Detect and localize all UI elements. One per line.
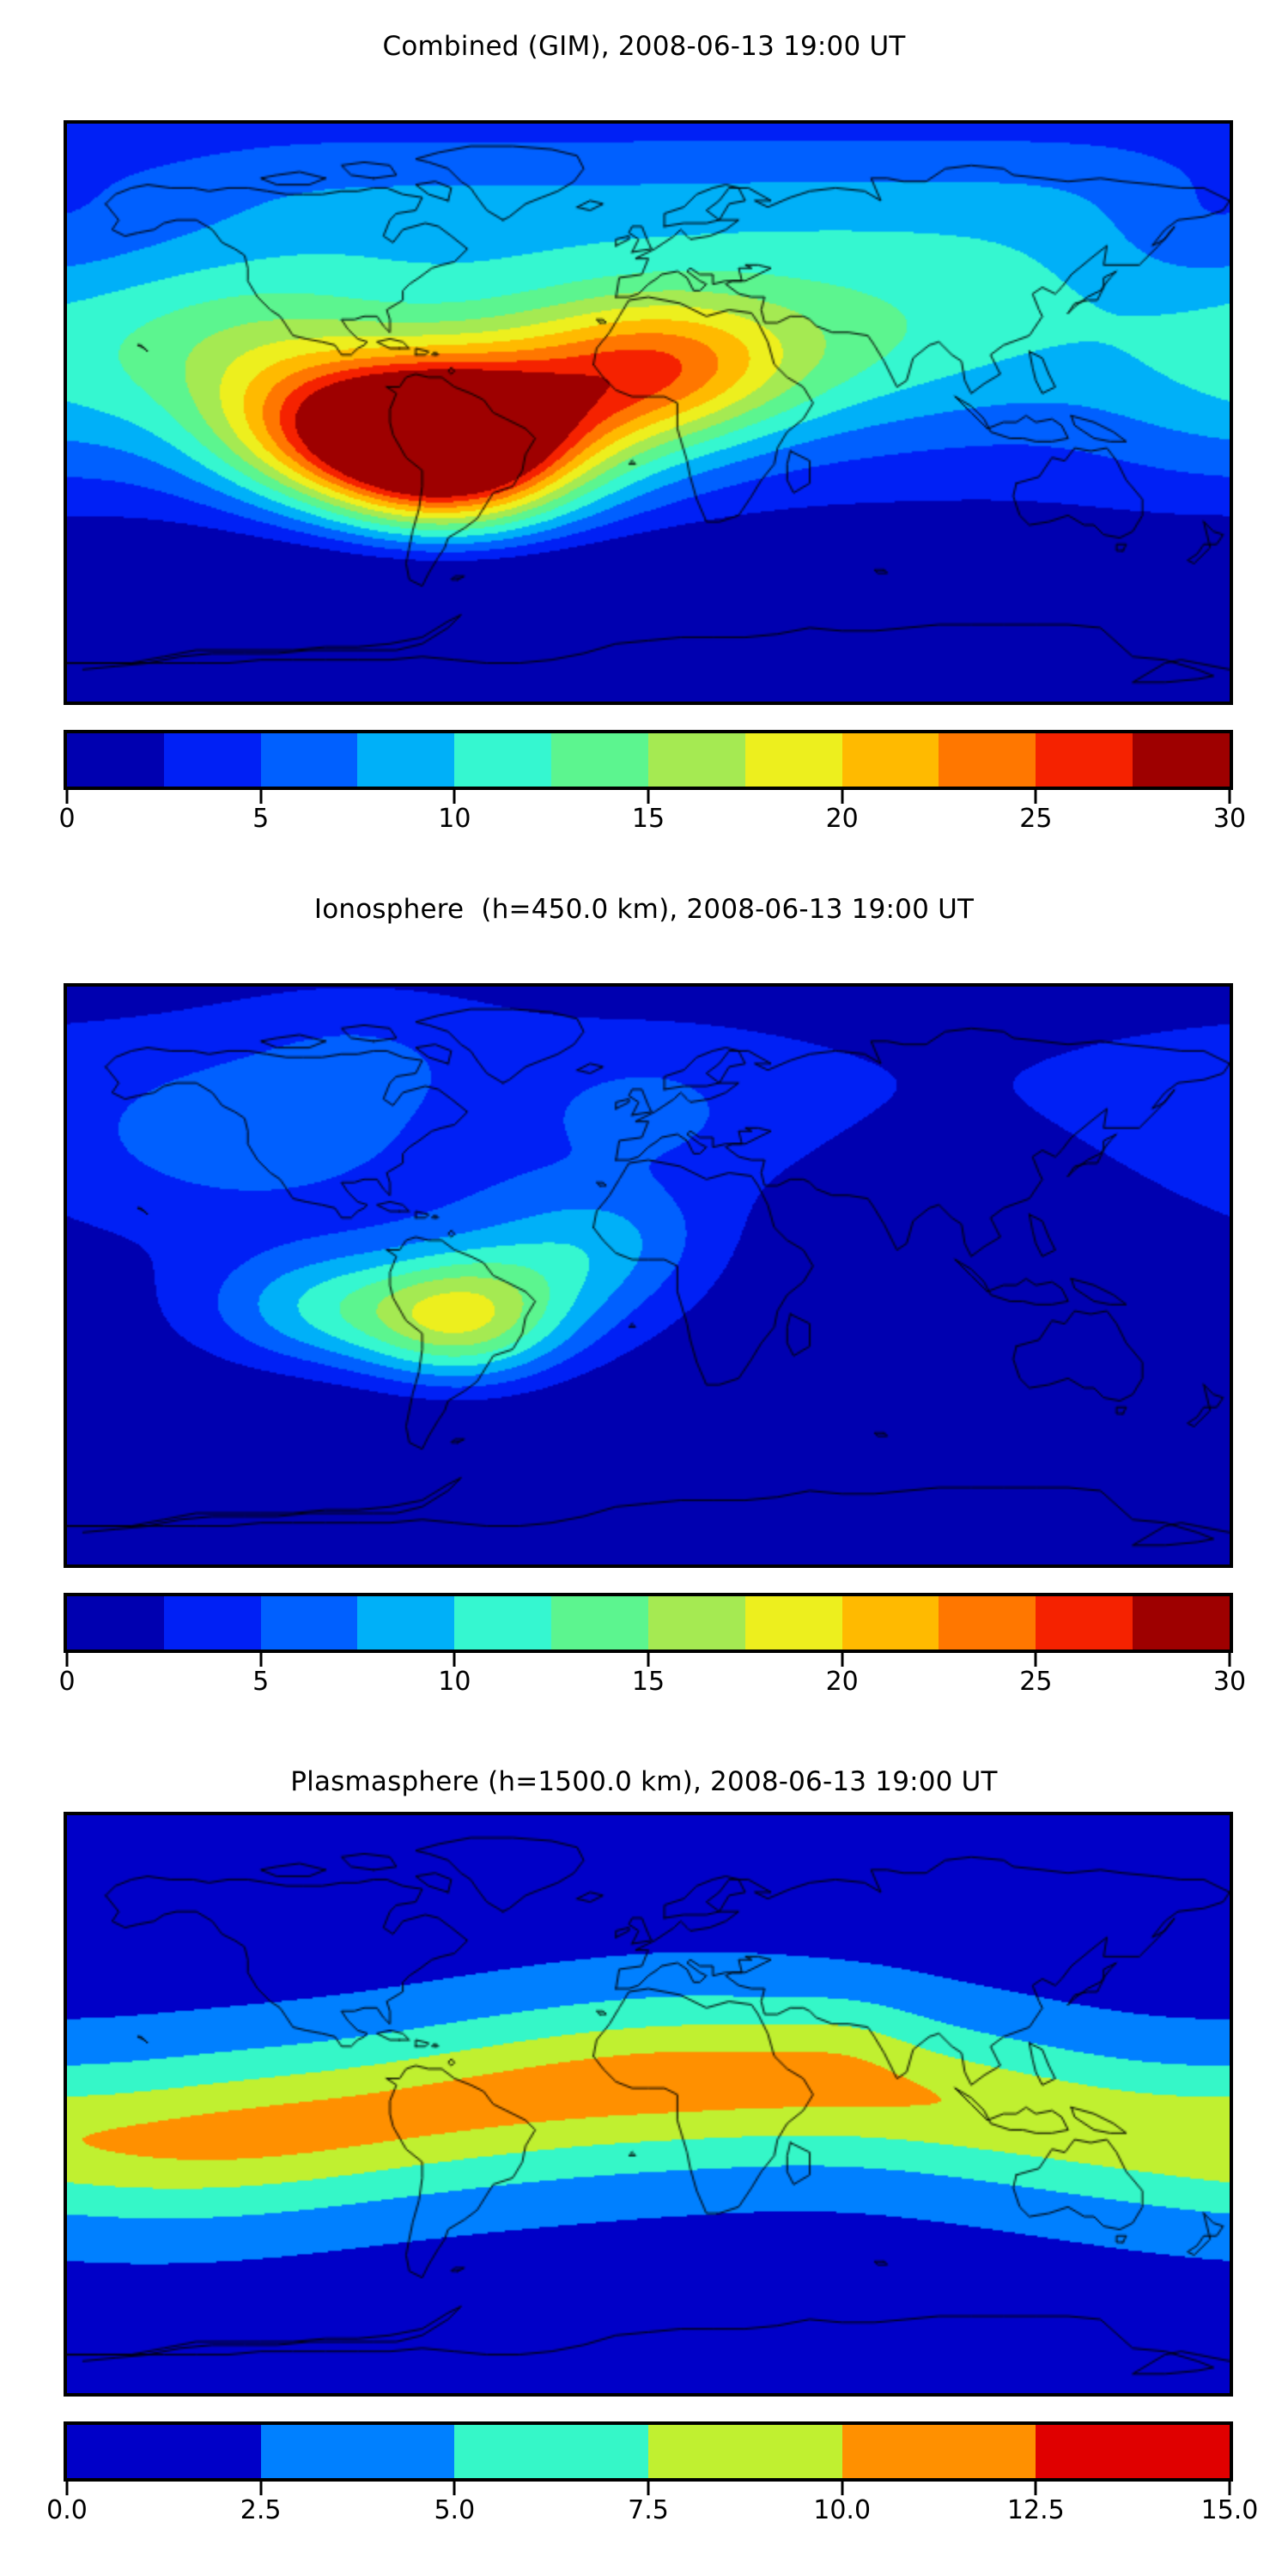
colorbar-segment (67, 2425, 261, 2478)
colorbar-segment (1036, 1596, 1133, 1649)
colorbar-tick-label: 10 (438, 804, 471, 834)
colorbar-segment (551, 1596, 648, 1649)
figure-root: Combined (GIM), 2008-06-13 19:00 UT 0510… (0, 0, 1288, 2576)
colorbar-segment (261, 1596, 358, 1649)
colorbar-segment (939, 733, 1036, 787)
colorbar-segment (454, 2425, 648, 2478)
colorbar-tick (1035, 2482, 1037, 2495)
colorbar-tick (1229, 2482, 1231, 2495)
colorbar-segment (261, 733, 358, 787)
colorbar-tick-label: 25 (1019, 804, 1052, 834)
colorbar-tick (841, 1653, 843, 1667)
colorbar-segment (939, 1596, 1036, 1649)
panel-title-combined-gim: Combined (GIM), 2008-06-13 19:00 UT (0, 31, 1288, 62)
colorbar-segment (1036, 733, 1133, 787)
colorbar-tick (259, 1653, 262, 1667)
colorbar-tick-label: 15 (632, 804, 665, 834)
colorbar-tick-label: 12.5 (1007, 2495, 1065, 2525)
colorbar-segment (357, 733, 454, 787)
panel-title-plasmasphere: Plasmasphere (h=1500.0 km), 2008-06-13 1… (0, 1766, 1288, 1797)
map-canvas-combined-gim (67, 124, 1230, 702)
colorbar-segment (1133, 733, 1230, 787)
colorbar-tick-label: 5 (252, 804, 269, 834)
colorbar-segment (1133, 1596, 1230, 1649)
colorbar-labels-combined-gim: 051015202530 (64, 804, 1233, 840)
colorbar-tick (66, 2482, 69, 2495)
colorbar-tick (66, 1653, 69, 1667)
panel-plasmasphere: Plasmasphere (h=1500.0 km), 2008-06-13 1… (0, 1735, 1288, 2576)
colorbar-segment (842, 1596, 939, 1649)
colorbar-plasmasphere: 0.02.55.07.510.012.515.0 (64, 2421, 1233, 2531)
colorbar-labels-plasmasphere: 0.02.55.07.510.012.515.0 (64, 2495, 1233, 2531)
colorbar-segment (261, 2425, 455, 2478)
colorbar-ticks-ionosphere (64, 1653, 1233, 1667)
colorbar-tick-label: 15 (632, 1667, 665, 1697)
colorbar-tick-label: 7.5 (628, 2495, 669, 2525)
colorbar-segment (67, 733, 164, 787)
colorbar-tick (453, 1653, 456, 1667)
colorbar-segment (454, 733, 551, 787)
colorbar-segment (745, 733, 842, 787)
colorbar-tick (647, 1653, 650, 1667)
panel-combined-gim: Combined (GIM), 2008-06-13 19:00 UT 0510… (0, 0, 1288, 859)
colorbar-tick (453, 790, 456, 804)
colorbar-combined-gim: 051015202530 (64, 730, 1233, 840)
colorbar-strip-ionosphere (64, 1593, 1233, 1653)
colorbar-segment (842, 2425, 1036, 2478)
colorbar-strip-combined-gim (64, 730, 1233, 790)
colorbar-tick (1229, 1653, 1231, 1667)
colorbar-ionosphere: 051015202530 (64, 1593, 1233, 1703)
colorbar-tick-label: 5 (252, 1667, 269, 1697)
colorbar-tick-label: 0 (58, 804, 75, 834)
colorbar-tick (453, 2482, 456, 2495)
colorbar-tick-label: 20 (826, 1667, 859, 1697)
map-canvas-ionosphere (67, 987, 1230, 1564)
colorbar-ticks-plasmasphere (64, 2482, 1233, 2495)
map-plasmasphere (64, 1812, 1233, 2397)
colorbar-segment (454, 1596, 551, 1649)
map-canvas-plasmasphere (67, 1815, 1230, 2393)
colorbar-segment (551, 733, 648, 787)
colorbar-strip-plasmasphere (64, 2421, 1233, 2482)
colorbar-tick-label: 10.0 (813, 2495, 871, 2525)
colorbar-tick (259, 790, 262, 804)
colorbar-tick (841, 2482, 843, 2495)
colorbar-tick-label: 15.0 (1201, 2495, 1259, 2525)
colorbar-segment (1036, 2425, 1230, 2478)
colorbar-segment (164, 1596, 261, 1649)
colorbar-tick (1035, 790, 1037, 804)
colorbar-tick (647, 2482, 650, 2495)
map-combined-gim (64, 120, 1233, 705)
colorbar-segment (745, 1596, 842, 1649)
colorbar-tick-label: 25 (1019, 1667, 1052, 1697)
colorbar-ticks-combined-gim (64, 790, 1233, 804)
panel-title-ionosphere: Ionosphere (h=450.0 km), 2008-06-13 19:0… (0, 894, 1288, 925)
colorbar-tick (841, 790, 843, 804)
colorbar-tick-label: 30 (1213, 1667, 1246, 1697)
colorbar-tick (66, 790, 69, 804)
colorbar-tick-label: 2.5 (240, 2495, 282, 2525)
colorbar-tick-label: 0.0 (46, 2495, 88, 2525)
colorbar-tick-label: 30 (1213, 804, 1246, 834)
colorbar-segment (648, 733, 745, 787)
panel-ionosphere: Ionosphere (h=450.0 km), 2008-06-13 19:0… (0, 859, 1288, 1735)
colorbar-tick-label: 20 (826, 804, 859, 834)
colorbar-labels-ionosphere: 051015202530 (64, 1667, 1233, 1703)
colorbar-segment (648, 1596, 745, 1649)
colorbar-tick (1229, 790, 1231, 804)
colorbar-tick (259, 2482, 262, 2495)
colorbar-tick (647, 790, 650, 804)
colorbar-tick-label: 10 (438, 1667, 471, 1697)
colorbar-segment (67, 1596, 164, 1649)
colorbar-segment (648, 2425, 842, 2478)
colorbar-tick-label: 5.0 (434, 2495, 475, 2525)
colorbar-tick (1035, 1653, 1037, 1667)
colorbar-segment (842, 733, 939, 787)
map-ionosphere (64, 983, 1233, 1568)
colorbar-segment (164, 733, 261, 787)
colorbar-segment (357, 1596, 454, 1649)
colorbar-tick-label: 0 (58, 1667, 75, 1697)
